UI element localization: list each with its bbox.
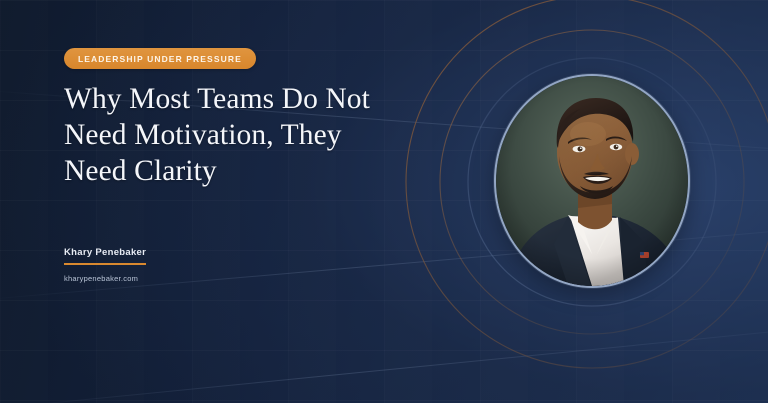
headline-line-2: Need Motivation, They <box>64 119 342 151</box>
content-column: LEADERSHIP UNDER PRESSURE Why Most Teams… <box>64 0 444 403</box>
avatar-ring: Headshot of Khary Penebaker, smiling man… <box>494 74 690 288</box>
avatar-photo: Headshot of Khary Penebaker, smiling man… <box>496 76 688 286</box>
headline-line-1: Why Most Teams Do Not <box>64 83 370 115</box>
social-card: Headshot of Khary Penebaker, smiling man… <box>0 0 768 403</box>
page-title: Why Most Teams Do NotNeed Motivation, Th… <box>64 81 394 189</box>
headline-line-3: Need Clarity <box>64 155 217 187</box>
avatar: Headshot of Khary Penebaker, smiling man… <box>494 74 690 288</box>
author-website: kharypenebaker.com <box>64 274 146 283</box>
author-name: Khary Penebaker <box>64 247 146 265</box>
byline: Khary Penebaker kharypenebaker.com <box>64 242 146 283</box>
eyebrow-badge: LEADERSHIP UNDER PRESSURE <box>64 48 256 69</box>
